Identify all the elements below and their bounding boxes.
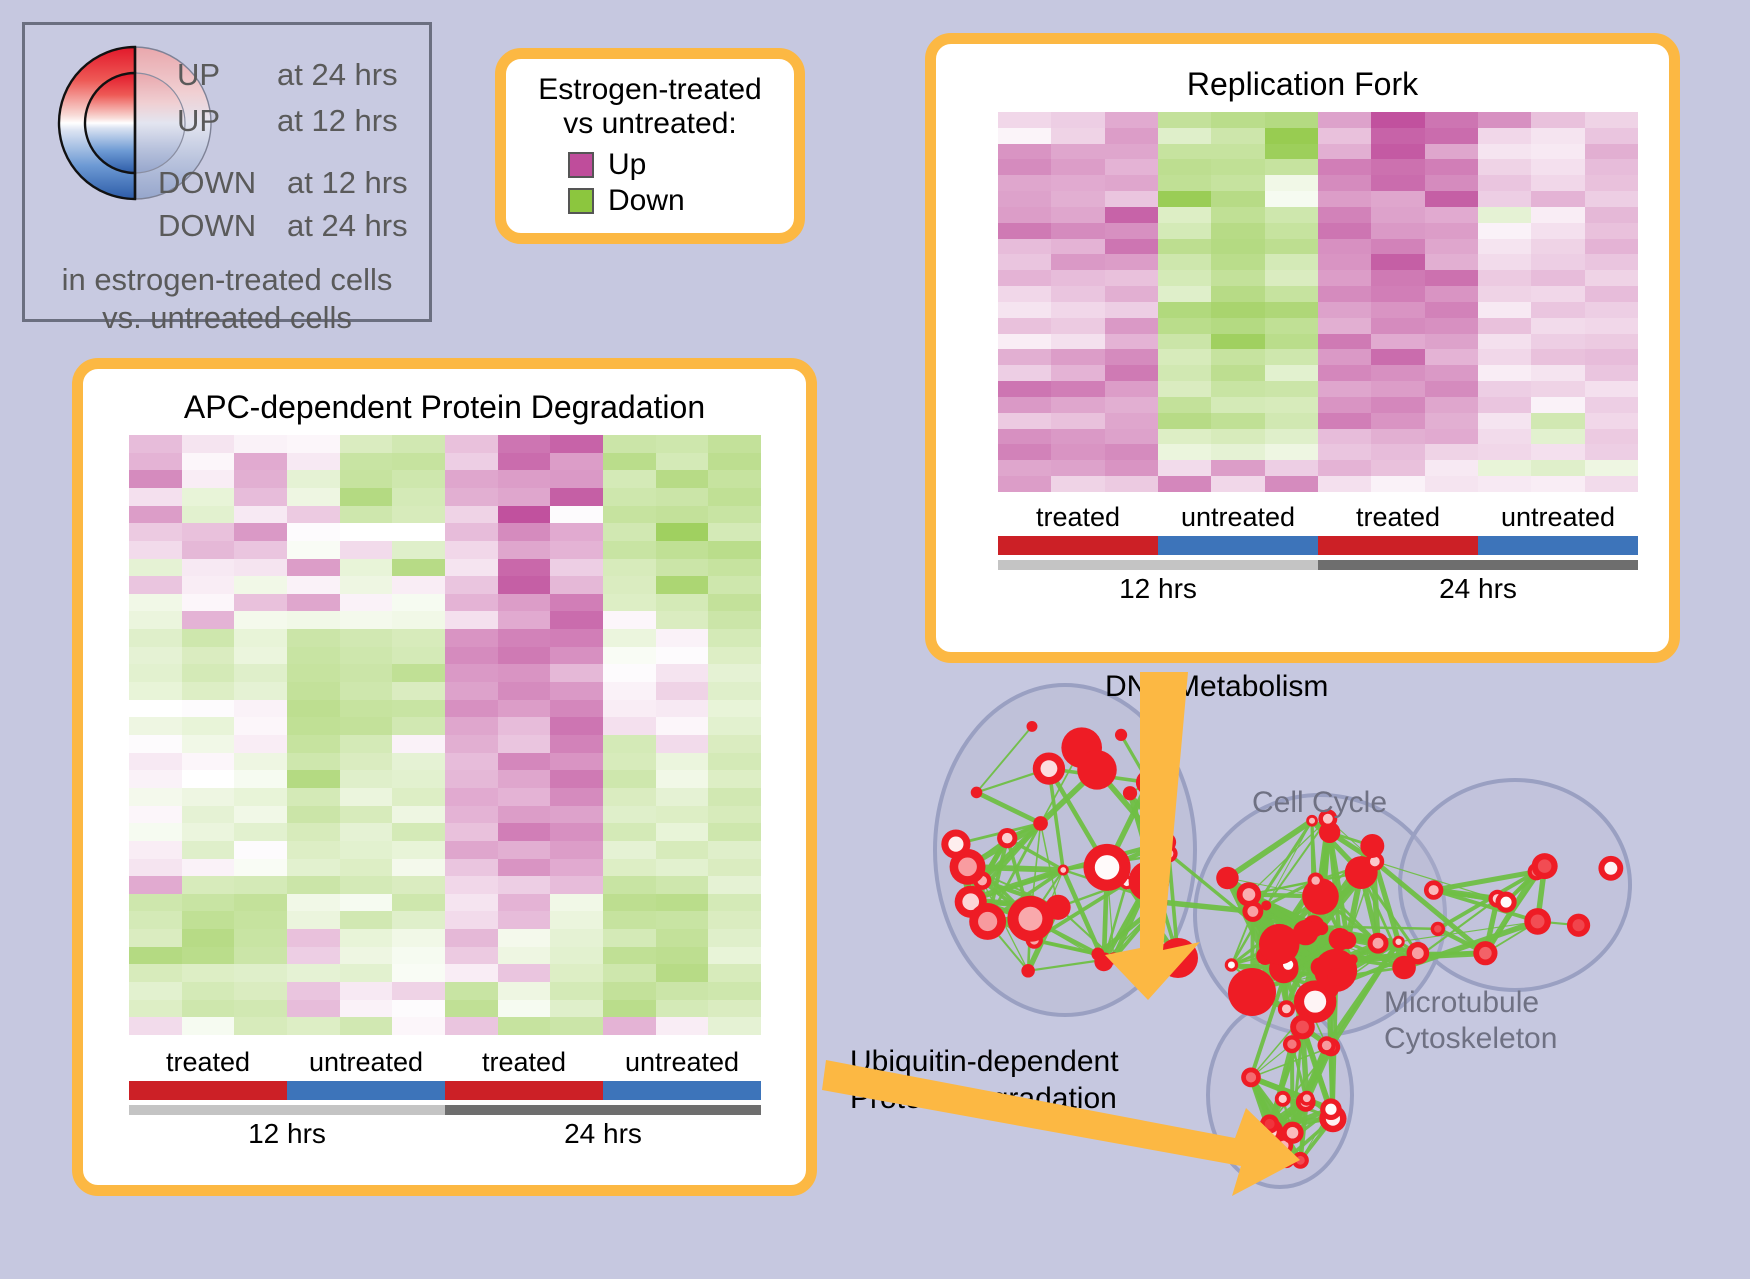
heatmap-cell bbox=[603, 806, 656, 824]
heatmap-cell bbox=[129, 929, 182, 947]
network-node[interactable] bbox=[1033, 752, 1065, 784]
heatmap-cell bbox=[1371, 381, 1424, 397]
heatmap-cell bbox=[550, 594, 603, 612]
network-node[interactable] bbox=[1392, 956, 1416, 980]
heatmap-cell bbox=[129, 947, 182, 965]
network-node[interactable] bbox=[1283, 1035, 1301, 1053]
network-node[interactable] bbox=[1136, 770, 1162, 796]
heatmap-cell bbox=[550, 506, 603, 524]
heatmap-cell bbox=[445, 911, 498, 929]
node-outer bbox=[1027, 721, 1038, 732]
heatmap-cell bbox=[182, 1017, 235, 1035]
network-node[interactable] bbox=[1424, 880, 1443, 899]
heatmap-cell bbox=[550, 700, 603, 718]
network-node[interactable] bbox=[1228, 968, 1276, 1016]
heatmap-cell bbox=[1051, 429, 1104, 445]
node-inner bbox=[1041, 760, 1058, 777]
network-node[interactable] bbox=[1320, 1098, 1342, 1120]
heatmap-cell bbox=[287, 806, 340, 824]
heatmap-cell bbox=[392, 806, 445, 824]
legend-panel: Estrogen-treated vs untreated: Up Down bbox=[495, 48, 805, 244]
heatmap-cell bbox=[1105, 429, 1158, 445]
legend-title-line1: Estrogen-treated bbox=[506, 73, 794, 107]
heatmap-cell bbox=[550, 1000, 603, 1018]
heatmap-cell bbox=[550, 982, 603, 1000]
heatmap-cell bbox=[445, 611, 498, 629]
heatmap-cell bbox=[234, 929, 287, 947]
heatmap-cell bbox=[708, 753, 761, 771]
heatmap-cell bbox=[287, 594, 340, 612]
network-node[interactable] bbox=[1524, 908, 1551, 935]
heatmap-cell bbox=[498, 964, 551, 982]
heatmap-cell bbox=[129, 841, 182, 859]
heatmap-cell bbox=[340, 823, 393, 841]
heatmap-cell bbox=[1478, 191, 1531, 207]
cond-label-apc-3: untreated bbox=[603, 1047, 761, 1078]
network-node[interactable] bbox=[1123, 786, 1137, 800]
heatmap-cell bbox=[498, 859, 551, 877]
heatmap-cell bbox=[1158, 349, 1211, 365]
network-node[interactable] bbox=[971, 787, 983, 799]
heatmap-cell bbox=[550, 894, 603, 912]
heatmap-cell bbox=[498, 488, 551, 506]
network-node[interactable] bbox=[1368, 933, 1389, 954]
heatmap-cell bbox=[1318, 397, 1371, 413]
heatmap-cell bbox=[445, 470, 498, 488]
heatmap-cell bbox=[1051, 128, 1104, 144]
network-node[interactable] bbox=[1077, 750, 1117, 790]
network-node[interactable] bbox=[1299, 1091, 1314, 1106]
network-node[interactable] bbox=[1158, 938, 1198, 978]
heatmap-cell bbox=[1425, 254, 1478, 270]
heatmap-cell bbox=[392, 876, 445, 894]
node-outer bbox=[971, 787, 983, 799]
heatmap-cell bbox=[550, 876, 603, 894]
heatmap-cell bbox=[1051, 191, 1104, 207]
heatmap-cell bbox=[1158, 365, 1211, 381]
heatmap-cell bbox=[234, 700, 287, 718]
network-node[interactable] bbox=[969, 903, 1006, 940]
legend-item-down: Down bbox=[568, 186, 794, 216]
heatmap-cell bbox=[1531, 397, 1584, 413]
heatmap-cell bbox=[1371, 286, 1424, 302]
heatmap-cell bbox=[603, 929, 656, 947]
heatmap-cell bbox=[1265, 302, 1318, 318]
node-inner bbox=[958, 857, 977, 876]
heatmap-cell bbox=[1158, 191, 1211, 207]
cond-label-rf-3: untreated bbox=[1478, 502, 1638, 533]
heatmap-cell bbox=[392, 523, 445, 541]
heatmap-cell bbox=[998, 365, 1051, 381]
network-node[interactable] bbox=[1328, 968, 1346, 986]
heatmap-cell bbox=[498, 541, 551, 559]
heatmap-cell bbox=[603, 506, 656, 524]
heatmap-cell bbox=[1318, 175, 1371, 191]
heatmap-cell bbox=[1158, 270, 1211, 286]
heatmap-cell bbox=[340, 541, 393, 559]
heatmap-cell bbox=[656, 823, 709, 841]
heatmap-cell bbox=[656, 453, 709, 471]
heatmap-cell bbox=[656, 470, 709, 488]
heatmap-cell bbox=[998, 413, 1051, 429]
condition-labels-apc: treated untreated treated untreated bbox=[129, 1047, 761, 1078]
heatmap-cell bbox=[234, 453, 287, 471]
network-node[interactable] bbox=[1216, 867, 1239, 890]
node-inner bbox=[1282, 1155, 1291, 1164]
heatmap-cell bbox=[1478, 476, 1531, 492]
heatmap-cell bbox=[287, 682, 340, 700]
heatmap-cell bbox=[603, 470, 656, 488]
heatmap-cell bbox=[392, 753, 445, 771]
heatmap-cell bbox=[1425, 159, 1478, 175]
heatmap-cell bbox=[550, 859, 603, 877]
network-node[interactable] bbox=[1242, 901, 1263, 922]
heatmap-cell bbox=[1585, 175, 1638, 191]
heatmap-cell bbox=[445, 841, 498, 859]
heatmap-cell bbox=[445, 735, 498, 753]
network-node[interactable] bbox=[1260, 1114, 1279, 1133]
heatmap-cell bbox=[1531, 349, 1584, 365]
network-node[interactable] bbox=[1007, 896, 1053, 942]
heatmap-cell bbox=[1318, 476, 1371, 492]
network-node[interactable] bbox=[1495, 892, 1516, 913]
heatmap-cell bbox=[1051, 460, 1104, 476]
heatmap-cell bbox=[1425, 128, 1478, 144]
heatmap-cell bbox=[1265, 429, 1318, 445]
node-inner bbox=[1279, 1095, 1287, 1103]
heatmap-cell bbox=[1265, 254, 1318, 270]
heatmap-cell bbox=[392, 611, 445, 629]
heatmap-cell bbox=[129, 859, 182, 877]
network-node[interactable] bbox=[1473, 941, 1497, 965]
heatmap-cell bbox=[998, 318, 1051, 334]
node-inner bbox=[948, 837, 963, 852]
heatmap-cell bbox=[182, 453, 235, 471]
heatmap-cell bbox=[1158, 223, 1211, 239]
network-node[interactable] bbox=[1027, 721, 1038, 732]
heatmap-cell bbox=[550, 629, 603, 647]
heatmap-cell bbox=[708, 523, 761, 541]
node-inner bbox=[1060, 867, 1066, 873]
time-bar-rf-24 bbox=[1318, 560, 1638, 570]
network-node[interactable] bbox=[1083, 844, 1130, 891]
network-node[interactable] bbox=[1532, 853, 1558, 879]
heatmap-cell bbox=[1158, 112, 1211, 128]
heatmap-cell bbox=[287, 859, 340, 877]
heatmap-cell bbox=[1531, 128, 1584, 144]
heatmap-cell bbox=[445, 717, 498, 735]
heatmap-cell bbox=[182, 1000, 235, 1018]
heatmap-cell bbox=[1211, 286, 1264, 302]
heatmap-cell bbox=[1211, 397, 1264, 413]
network-node[interactable] bbox=[1360, 834, 1384, 858]
heatmap-cell bbox=[1478, 302, 1531, 318]
heatmap-cell bbox=[234, 629, 287, 647]
heatmap-cell bbox=[1531, 365, 1584, 381]
network-graph: DNA Metabolism Cell Cycle Microtubule Cy… bbox=[900, 640, 1750, 1279]
time-label-rf-12: 12 hrs bbox=[998, 573, 1318, 605]
legend-label-up: Up bbox=[608, 150, 646, 180]
heatmap-cell bbox=[129, 823, 182, 841]
network-node[interactable] bbox=[1275, 1091, 1291, 1107]
network-node[interactable] bbox=[1091, 948, 1104, 961]
heatmap-cell bbox=[998, 270, 1051, 286]
heatmap-cell bbox=[392, 823, 445, 841]
network-node[interactable] bbox=[1329, 928, 1352, 951]
heatmap-cell bbox=[287, 788, 340, 806]
network-node[interactable] bbox=[1318, 1036, 1336, 1054]
heatmap-cell bbox=[340, 629, 393, 647]
network-node[interactable] bbox=[1393, 936, 1405, 948]
heatmap-cell bbox=[1531, 144, 1584, 160]
heatmap-cell bbox=[498, 911, 551, 929]
cond-label-apc-1: untreated bbox=[287, 1047, 445, 1078]
heatmap-cell bbox=[998, 239, 1051, 255]
heatmap-cell bbox=[445, 823, 498, 841]
heatmap-cell bbox=[998, 381, 1051, 397]
network-node[interactable] bbox=[1567, 914, 1590, 937]
heatmap-cell bbox=[234, 559, 287, 577]
heatmap-cell bbox=[1425, 476, 1478, 492]
heatmap-cell bbox=[1105, 128, 1158, 144]
key-caption-line1: in estrogen-treated cells bbox=[25, 261, 429, 300]
network-node[interactable] bbox=[1021, 964, 1035, 978]
heatmap-cell bbox=[182, 929, 235, 947]
heatmap-cell bbox=[1318, 460, 1371, 476]
heatmap-cell bbox=[340, 470, 393, 488]
heatmap-cell bbox=[1371, 302, 1424, 318]
heatmap-cell bbox=[603, 435, 656, 453]
heatmap-cell bbox=[1105, 144, 1158, 160]
heatmap-cell bbox=[1318, 444, 1371, 460]
network-node[interactable] bbox=[1241, 1068, 1261, 1088]
heatmap-cell bbox=[1051, 302, 1104, 318]
heatmap-cell bbox=[234, 1000, 287, 1018]
key-time-up-24: at 24 hrs bbox=[277, 57, 398, 93]
heatmap-cell bbox=[1531, 318, 1584, 334]
heatmap-cell bbox=[708, 470, 761, 488]
heatmap-cell bbox=[1425, 334, 1478, 350]
heatmap-cell bbox=[1425, 365, 1478, 381]
heatmap-cell bbox=[1265, 286, 1318, 302]
heatmap-cell bbox=[1585, 318, 1638, 334]
heatmap-cell bbox=[392, 788, 445, 806]
cond-bar-apc-0 bbox=[129, 1081, 287, 1100]
node-inner bbox=[1370, 857, 1380, 867]
heatmap-cell bbox=[1585, 444, 1638, 460]
heatmap-cell bbox=[1105, 349, 1158, 365]
heatmap-apc bbox=[129, 435, 761, 1035]
heatmap-cell bbox=[708, 629, 761, 647]
heatmap-cell bbox=[340, 1017, 393, 1035]
heatmap-cell bbox=[1158, 476, 1211, 492]
network-node[interactable] bbox=[1115, 729, 1127, 741]
heatmap-cell bbox=[1425, 191, 1478, 207]
panel-title-replication-fork: Replication Fork bbox=[936, 66, 1669, 103]
key-time-down-24: at 24 hrs bbox=[287, 208, 408, 244]
heatmap-cell bbox=[182, 559, 235, 577]
heatmap-cell bbox=[392, 894, 445, 912]
heatmap-cell bbox=[708, 911, 761, 929]
network-node[interactable] bbox=[1033, 816, 1048, 831]
heatmap-cell bbox=[708, 506, 761, 524]
heatmap-cell bbox=[1585, 413, 1638, 429]
heatmap-cell bbox=[1371, 397, 1424, 413]
heatmap-cell bbox=[1211, 270, 1264, 286]
node-inner bbox=[1243, 888, 1256, 901]
network-node[interactable] bbox=[1129, 861, 1170, 902]
network-node[interactable] bbox=[1157, 832, 1177, 852]
heatmap-cell bbox=[1371, 223, 1424, 239]
heatmap-cell bbox=[1371, 365, 1424, 381]
heatmap-cell bbox=[1585, 207, 1638, 223]
heatmap-cell bbox=[445, 1017, 498, 1035]
heatmap-cell bbox=[603, 647, 656, 665]
heatmap-cell bbox=[656, 559, 709, 577]
time-bar-apc-12 bbox=[129, 1105, 445, 1115]
heatmap-cell bbox=[287, 947, 340, 965]
heatmap-cell bbox=[1211, 381, 1264, 397]
network-node[interactable] bbox=[1598, 856, 1623, 881]
network-node[interactable] bbox=[1108, 952, 1120, 964]
heatmap-cell bbox=[182, 823, 235, 841]
network-node[interactable] bbox=[1431, 922, 1445, 936]
heatmap-cell bbox=[287, 894, 340, 912]
heatmap-cell bbox=[182, 576, 235, 594]
heatmap-cell bbox=[234, 682, 287, 700]
heatmap-cell bbox=[1478, 397, 1531, 413]
heatmap-cell bbox=[1425, 381, 1478, 397]
cond-label-rf-2: treated bbox=[1318, 502, 1478, 533]
heatmap-cell bbox=[1318, 159, 1371, 175]
heatmap-cell bbox=[1318, 112, 1371, 128]
network-node[interactable] bbox=[1058, 864, 1069, 875]
network-node[interactable] bbox=[1281, 1122, 1303, 1144]
network-node[interactable] bbox=[997, 828, 1017, 848]
heatmap-cell bbox=[234, 982, 287, 1000]
node-inner bbox=[1322, 1041, 1332, 1051]
heatmap-cell bbox=[1478, 286, 1531, 302]
heatmap-cell bbox=[498, 982, 551, 1000]
node-inner bbox=[1247, 906, 1258, 917]
heatmap-cell bbox=[1478, 444, 1531, 460]
heatmap-cell bbox=[445, 506, 498, 524]
heatmap-cell bbox=[1531, 476, 1584, 492]
heatmap-cell bbox=[392, 770, 445, 788]
node-inner bbox=[1304, 991, 1326, 1013]
heatmap-cell bbox=[498, 594, 551, 612]
heatmap-cell bbox=[1211, 460, 1264, 476]
heatmap-cell bbox=[445, 700, 498, 718]
heatmap-cell bbox=[182, 488, 235, 506]
heatmap-cell bbox=[1478, 223, 1531, 239]
heatmap-cell bbox=[1371, 207, 1424, 223]
heatmap-cell bbox=[708, 823, 761, 841]
heatmap-cell bbox=[603, 1017, 656, 1035]
network-node[interactable] bbox=[1308, 872, 1324, 888]
heatmap-cell bbox=[392, 594, 445, 612]
heatmap-cell bbox=[340, 876, 393, 894]
heatmap-cell bbox=[129, 559, 182, 577]
heatmap-cell bbox=[129, 664, 182, 682]
heatmap-cell bbox=[1371, 318, 1424, 334]
heatmap-cell bbox=[998, 144, 1051, 160]
heatmap-cell bbox=[287, 823, 340, 841]
heatmap-cell bbox=[182, 947, 235, 965]
heatmap-cell bbox=[445, 894, 498, 912]
heatmap-cell bbox=[550, 453, 603, 471]
heatmap-cell bbox=[287, 876, 340, 894]
heatmap-cell bbox=[708, 453, 761, 471]
heatmap-cell bbox=[392, 435, 445, 453]
heatmap-cell bbox=[998, 112, 1051, 128]
heatmap-cell bbox=[1105, 270, 1158, 286]
heatmap-cell bbox=[603, 629, 656, 647]
node-outer bbox=[1328, 968, 1346, 986]
heatmap-cell bbox=[1051, 334, 1104, 350]
heatmap-cell bbox=[1051, 318, 1104, 334]
heatmap-cell bbox=[998, 223, 1051, 239]
heatmap-cell bbox=[708, 664, 761, 682]
heatmap-cell bbox=[603, 947, 656, 965]
heatmap-cell bbox=[1318, 429, 1371, 445]
heatmap-cell bbox=[287, 735, 340, 753]
heatmap-cell bbox=[445, 664, 498, 682]
heatmap-cell bbox=[234, 647, 287, 665]
heatmap-cell bbox=[498, 453, 551, 471]
heatmap-cell bbox=[287, 982, 340, 1000]
heatmap-cell bbox=[445, 523, 498, 541]
heatmap-cell bbox=[1211, 429, 1264, 445]
heatmap-cell bbox=[445, 647, 498, 665]
heatmap-cell bbox=[1265, 159, 1318, 175]
heatmap-cell bbox=[1105, 444, 1158, 460]
node-outer bbox=[1392, 956, 1416, 980]
heatmap-cell bbox=[287, 506, 340, 524]
heatmap-cell bbox=[498, 611, 551, 629]
heatmap-cell bbox=[1371, 191, 1424, 207]
heatmap-cell bbox=[1265, 128, 1318, 144]
node-inner bbox=[1296, 1156, 1305, 1165]
heatmap-cell bbox=[340, 664, 393, 682]
network-node[interactable] bbox=[1292, 1152, 1309, 1169]
heatmap-cell bbox=[603, 841, 656, 859]
heatmap-cell bbox=[1105, 476, 1158, 492]
heatmap-cell bbox=[1585, 381, 1638, 397]
network-node[interactable] bbox=[950, 849, 986, 885]
heatmap-cell bbox=[1051, 381, 1104, 397]
heatmap-cell bbox=[234, 859, 287, 877]
heatmap-cell bbox=[340, 894, 393, 912]
network-node[interactable] bbox=[1293, 920, 1318, 945]
heatmap-cell bbox=[708, 735, 761, 753]
heatmap-cell bbox=[392, 929, 445, 947]
heatmap-cell bbox=[603, 1000, 656, 1018]
heatmap-cell bbox=[1531, 413, 1584, 429]
heatmap-cell bbox=[182, 859, 235, 877]
heatmap-cell bbox=[340, 964, 393, 982]
network-node[interactable] bbox=[1278, 1000, 1295, 1017]
heatmap-cell bbox=[1158, 381, 1211, 397]
heatmap-cell bbox=[129, 488, 182, 506]
node-inner bbox=[1479, 947, 1492, 960]
network-node[interactable] bbox=[1155, 896, 1167, 908]
heatmap-cell bbox=[1585, 191, 1638, 207]
node-inner bbox=[1325, 1104, 1336, 1115]
heatmap-cell bbox=[1425, 144, 1478, 160]
heatmap-cell bbox=[498, 717, 551, 735]
network-node[interactable] bbox=[1225, 958, 1238, 971]
